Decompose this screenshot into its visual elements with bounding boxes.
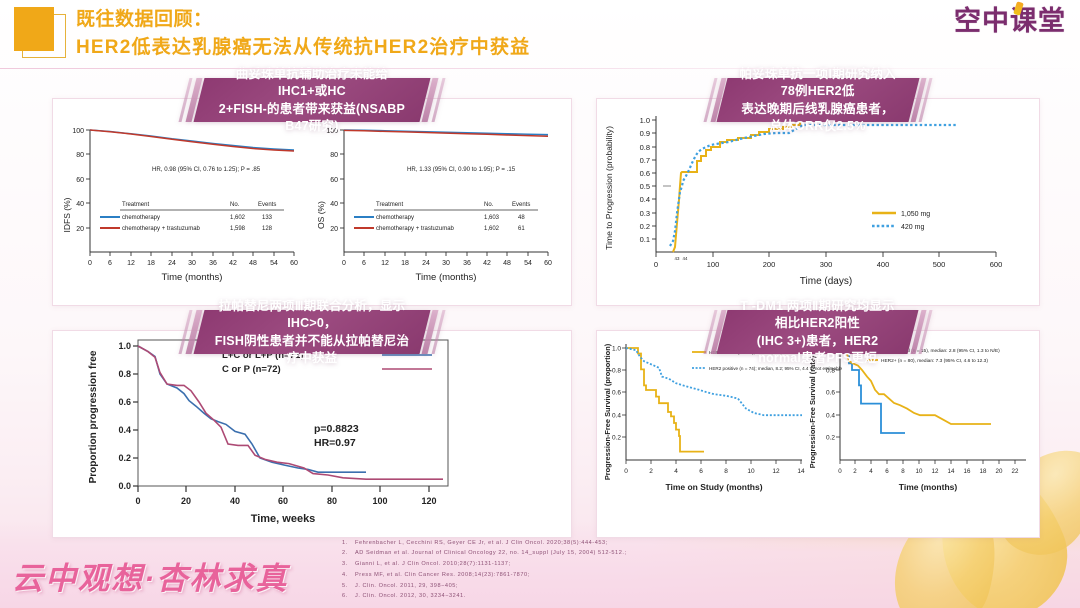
legend-header-events: Events <box>258 202 276 208</box>
reference-item: 2. AD Seidman et al. Journal of Clinical… <box>342 548 812 559</box>
legend-header-no: No. <box>484 202 494 208</box>
svg-text:400: 400 <box>877 260 890 269</box>
chart-annotation: HR, 0.98 (95% CI, 0.76 to 1.25); P = .85 <box>152 166 261 173</box>
svg-text:80: 80 <box>330 152 338 159</box>
slide-header: 既往数据回顾： HER2低表达乳腺癌无法从传统抗HER2治疗中获益 空中课堂 <box>0 0 1080 72</box>
svg-text:12: 12 <box>932 468 939 475</box>
svg-text:2: 2 <box>649 468 653 475</box>
chart-legend-table: Treatment No. Events chemotherapy 1,602 … <box>100 202 284 232</box>
legend-row-0-label: chemotherapy <box>376 215 414 221</box>
svg-text:18: 18 <box>401 260 409 267</box>
svg-text:20: 20 <box>181 496 191 506</box>
reference-text: Fehrenbacher L, Cecchini RS, Geyer CE Jr… <box>355 538 812 549</box>
axis-label-y: Progression-Free Survival (rate) <box>808 355 817 468</box>
svg-text:18: 18 <box>980 468 987 475</box>
svg-text:20: 20 <box>76 226 84 233</box>
panel-banner: 曲妥珠单抗辅助治疗未能给IHC1+或HC 2+FISH-的患者带来获益(NSAB… <box>182 78 442 122</box>
brand-logo-text: 空中课堂 <box>954 6 1066 36</box>
svg-text:100: 100 <box>707 260 720 269</box>
svg-text:60: 60 <box>278 496 288 506</box>
svg-text:6: 6 <box>362 260 366 267</box>
svg-text:60: 60 <box>544 260 552 267</box>
svg-text:0.2: 0.2 <box>118 453 131 463</box>
svg-text:0.3: 0.3 <box>640 209 650 218</box>
axis-label-x: Time on Study (months) <box>665 482 762 492</box>
axis-label-x: Time, weeks <box>251 513 316 525</box>
legend-header-no: No. <box>230 202 240 208</box>
svg-text:40: 40 <box>330 201 338 208</box>
svg-text:100: 100 <box>372 496 387 506</box>
footer-brand: 云中观想·杏林求真 <box>12 563 288 594</box>
legend-header-events: Events <box>512 202 530 208</box>
svg-text:12: 12 <box>772 468 780 475</box>
banner-slab: 帕妥珠单抗一项Ⅰ期研究纳入78例HER2低 表达晚期后线乳腺癌患者，总体ORR仅… <box>717 78 919 122</box>
chart-annotation-pvalue: p=0.8823 <box>314 423 359 435</box>
svg-text:0.8: 0.8 <box>640 143 650 152</box>
legend-row-0-no: 1,603 <box>484 215 500 221</box>
svg-text:20: 20 <box>330 226 338 233</box>
svg-text:0.2: 0.2 <box>640 222 650 231</box>
brand-logo: 空中课堂 <box>954 8 1066 35</box>
reference-text: Press MF, et al. Clin Cancer Res. 2008;1… <box>355 570 812 581</box>
reference-text: Gianni L, et al. J Clin Oncol. 2010;28(7… <box>355 559 812 570</box>
page-title: 既往数据回顾： HER2低表达乳腺癌无法从传统抗HER2治疗中获益 <box>76 6 530 62</box>
svg-text:18: 18 <box>147 260 155 267</box>
svg-text:6: 6 <box>699 468 703 475</box>
panel-banner: 帕妥珠单抗一项Ⅰ期研究纳入78例HER2低 表达晚期后线乳腺癌患者，总体ORR仅… <box>707 78 929 122</box>
panel-grid: 曲妥珠单抗辅助治疗未能给IHC1+或HC 2+FISH-的患者带来获益(NSAB… <box>52 78 1040 538</box>
axis-label-y: Proportion progression free <box>88 350 99 483</box>
svg-text:100: 100 <box>72 128 84 135</box>
svg-text:42: 42 <box>229 260 237 267</box>
svg-text:40: 40 <box>230 496 240 506</box>
reference-number: 6. <box>342 591 355 602</box>
svg-text:0: 0 <box>135 496 140 506</box>
axis-label-y: Time to Progression (probability) <box>604 126 614 250</box>
reference-number: 4. <box>342 570 355 581</box>
legend-row-1-no: 1,598 <box>230 226 246 232</box>
svg-text:1.0: 1.0 <box>118 341 131 351</box>
svg-text:6: 6 <box>108 260 112 267</box>
svg-text:0: 0 <box>838 468 842 475</box>
svg-text:0.7: 0.7 <box>640 156 650 165</box>
axis-label-x: Time (days) <box>800 276 852 287</box>
svg-text:6: 6 <box>885 468 889 475</box>
axis-label-x: Time (months) <box>162 272 223 283</box>
svg-text:60: 60 <box>76 177 84 184</box>
svg-text:0.4: 0.4 <box>118 425 131 435</box>
svg-text:12: 12 <box>127 260 135 267</box>
svg-text:60: 60 <box>290 260 298 267</box>
legend-header-treatment: Treatment <box>376 202 403 208</box>
panel-banner-text: T -DM1 两项Ⅱ期研究均显示相比HER2阳性 (IHC 3+)患者，HER2… <box>736 298 899 367</box>
svg-text:14: 14 <box>797 468 805 475</box>
svg-text:0.2: 0.2 <box>612 435 621 442</box>
svg-text:4: 4 <box>674 468 678 475</box>
reference-list: 1. Fehrenbacher L, Cecchini RS, Geyer CE… <box>342 538 812 602</box>
legend-row-1-no: 1,602 <box>484 226 500 232</box>
svg-text:300: 300 <box>820 260 833 269</box>
panel-banner: 拉帕替尼两项Ⅲ期联合分析，显示IHC>0， FISH阴性患者并不能从拉帕替尼治疗… <box>182 310 442 354</box>
svg-text:54: 54 <box>524 260 532 267</box>
banner-slab: T -DM1 两项Ⅱ期研究均显示相比HER2阳性 (IHC 3+)患者，HER2… <box>717 310 919 354</box>
svg-text:200: 200 <box>763 260 776 269</box>
svg-text:48: 48 <box>249 260 257 267</box>
reference-item: 3. Gianni L, et al. J Clin Oncol. 2010;2… <box>342 559 812 570</box>
reference-text: J. Clin. Oncol. 2011, 29, 398−405; <box>355 581 812 592</box>
svg-text:22: 22 <box>1012 468 1019 475</box>
svg-text:1.0: 1.0 <box>640 116 650 125</box>
svg-text:30: 30 <box>442 260 450 267</box>
axis-label-x: Time (months) <box>416 272 477 283</box>
legend-item-1050mg: 1,050 mg <box>901 211 930 218</box>
banner-slab: 曲妥珠单抗辅助治疗未能给IHC1+或HC 2+FISH-的患者带来获益(NSAB… <box>193 78 430 122</box>
svg-text:16: 16 <box>964 468 971 475</box>
svg-text:48: 48 <box>503 260 511 267</box>
panel-banner-text: 拉帕替尼两项Ⅲ期联合分析，显示IHC>0， FISH阴性患者并不能从拉帕替尼治疗… <box>213 298 411 367</box>
svg-text:0.1: 0.1 <box>640 235 650 244</box>
legend-header-treatment: Treatment <box>122 202 149 208</box>
svg-text:80: 80 <box>327 496 337 506</box>
svg-text:600: 600 <box>990 260 1003 269</box>
svg-text:0: 0 <box>624 468 628 475</box>
svg-text:80: 80 <box>76 152 84 159</box>
svg-text:0.2: 0.2 <box>826 435 835 442</box>
svg-text:4: 4 <box>869 468 873 475</box>
svg-text:0.0: 0.0 <box>118 481 131 491</box>
svg-text:60: 60 <box>330 177 338 184</box>
svg-text:42: 42 <box>483 260 491 267</box>
svg-text:54: 54 <box>270 260 278 267</box>
legend-item-420mg: 420 mg <box>901 224 924 231</box>
legend-row-0-no: 1,602 <box>230 215 246 221</box>
svg-text:8: 8 <box>901 468 905 475</box>
svg-text:0: 0 <box>88 260 92 267</box>
square-solid-decoration <box>14 7 54 51</box>
reference-number: 5. <box>342 581 355 592</box>
legend-row-0-events: 133 <box>262 215 273 221</box>
legend-row-0-events: 48 <box>518 215 525 221</box>
axis-label-y: OS (%) <box>316 201 326 229</box>
svg-text:36: 36 <box>463 260 471 267</box>
chart-annotation: HR, 1.33 (95% CI, 0.90 to 1.95); P = .15 <box>407 166 516 173</box>
subchart-os: OS (%) 100 80 60 40 20 0 6 12 18 <box>316 128 552 283</box>
reference-text: AD Seidman et al. Journal of Clinical On… <box>355 548 812 559</box>
svg-text:40: 40 <box>76 201 84 208</box>
svg-text:0.4: 0.4 <box>612 413 621 420</box>
panel-banner-text: 曲妥珠单抗辅助治疗未能给IHC1+或HC 2+FISH-的患者带来获益(NSAB… <box>213 66 411 135</box>
axis-label-x: Time (months) <box>899 482 958 492</box>
reference-number: 3. <box>342 559 355 570</box>
svg-text:10: 10 <box>747 468 755 475</box>
svg-text:0.8: 0.8 <box>118 369 131 379</box>
reference-text: J. Clin. Oncol. 2012, 30, 3234−3241. <box>355 591 812 602</box>
svg-text:120: 120 <box>421 496 436 506</box>
svg-text:0: 0 <box>342 260 346 267</box>
legend-row-0-label: chemotherapy <box>122 215 160 221</box>
reference-item: 5. J. Clin. Oncol. 2011, 29, 398−405; <box>342 581 812 592</box>
svg-text:2: 2 <box>853 468 857 475</box>
reference-item: 1. Fehrenbacher L, Cecchini RS, Geyer CE… <box>342 538 812 549</box>
svg-text:1.0: 1.0 <box>612 346 621 353</box>
panel-banner: T -DM1 两项Ⅱ期研究均显示相比HER2阳性 (IHC 3+)患者，HER2… <box>707 310 929 354</box>
panel-lapatinib-pooled: 拉帕替尼两项Ⅲ期联合分析，显示IHC>0， FISH阴性患者并不能从拉帕替尼治疗… <box>52 310 572 538</box>
svg-text:0.6: 0.6 <box>826 390 835 397</box>
svg-text:0.8: 0.8 <box>612 368 621 375</box>
legend-row-1-label: chemotherapy + trastuzumab <box>376 226 455 232</box>
page-title-line1: 既往数据回顾： <box>76 6 530 34</box>
subchart-idfs: IDFS (%) 100 80 60 40 20 0 6 <box>62 128 298 283</box>
chart-annotation-hr: HR=0.97 <box>314 437 356 449</box>
panel-nsabp-b47: 曲妥珠单抗辅助治疗未能给IHC1+或HC 2+FISH-的患者带来获益(NSAB… <box>52 78 572 306</box>
legend-row-1-events: 128 <box>262 226 273 232</box>
tick-annotation-43: 43 <box>675 256 680 261</box>
axis-label-y: IDFS (%) <box>62 197 72 232</box>
svg-text:0.9: 0.9 <box>640 129 650 138</box>
chart-legend-table: Treatment No. Events chemotherapy 1,603 … <box>354 202 538 232</box>
svg-text:0.6: 0.6 <box>640 169 650 178</box>
reference-item: 6. J. Clin. Oncol. 2012, 30, 3234−3241. <box>342 591 812 602</box>
legend-row-1-events: 61 <box>518 226 525 232</box>
tick-annotation-44: 44 <box>683 256 688 261</box>
reference-item: 4. Press MF, et al. Clin Cancer Res. 200… <box>342 570 812 581</box>
panel-banner-text: 帕妥珠单抗一项Ⅰ期研究纳入78例HER2低 表达晚期后线乳腺癌患者，总体ORR仅… <box>736 66 900 135</box>
svg-text:20: 20 <box>996 468 1003 475</box>
svg-text:0.6: 0.6 <box>612 390 621 397</box>
svg-text:36: 36 <box>209 260 217 267</box>
header-divider <box>0 68 1080 69</box>
panel-tdm1-phase2: T -DM1 两项Ⅱ期研究均显示相比HER2阳性 (IHC 3+)患者，HER2… <box>596 310 1040 538</box>
reference-number: 1. <box>342 538 355 549</box>
svg-text:0.4: 0.4 <box>826 413 835 420</box>
svg-text:0.6: 0.6 <box>118 397 131 407</box>
page-title-line2: HER2低表达乳腺癌无法从传统抗HER2治疗中获益 <box>76 34 530 63</box>
banner-slab: 拉帕替尼两项Ⅲ期联合分析，显示IHC>0， FISH阴性患者并不能从拉帕替尼治疗… <box>193 310 430 354</box>
svg-text:24: 24 <box>422 260 430 267</box>
svg-text:0.8: 0.8 <box>826 368 835 375</box>
panel-pertuzumab-phase1: 帕妥珠单抗一项Ⅰ期研究纳入78例HER2低 表达晚期后线乳腺癌患者，总体ORR仅… <box>596 78 1040 306</box>
chart-legend: 1,050 mg 420 mg <box>872 211 930 231</box>
svg-text:10: 10 <box>916 468 923 475</box>
svg-text:8: 8 <box>724 468 728 475</box>
svg-text:24: 24 <box>168 260 176 267</box>
svg-text:0.5: 0.5 <box>640 182 650 191</box>
svg-text:14: 14 <box>948 468 955 475</box>
axis-label-y: Progression-Free Survival (proportion) <box>603 343 612 480</box>
svg-text:12: 12 <box>381 260 389 267</box>
svg-text:30: 30 <box>188 260 196 267</box>
legend-row-1-label: chemotherapy + trastuzumab <box>122 226 201 232</box>
reference-number: 2. <box>342 548 355 559</box>
svg-text:0.4: 0.4 <box>640 195 650 204</box>
svg-text:500: 500 <box>933 260 946 269</box>
svg-text:0: 0 <box>654 260 658 269</box>
